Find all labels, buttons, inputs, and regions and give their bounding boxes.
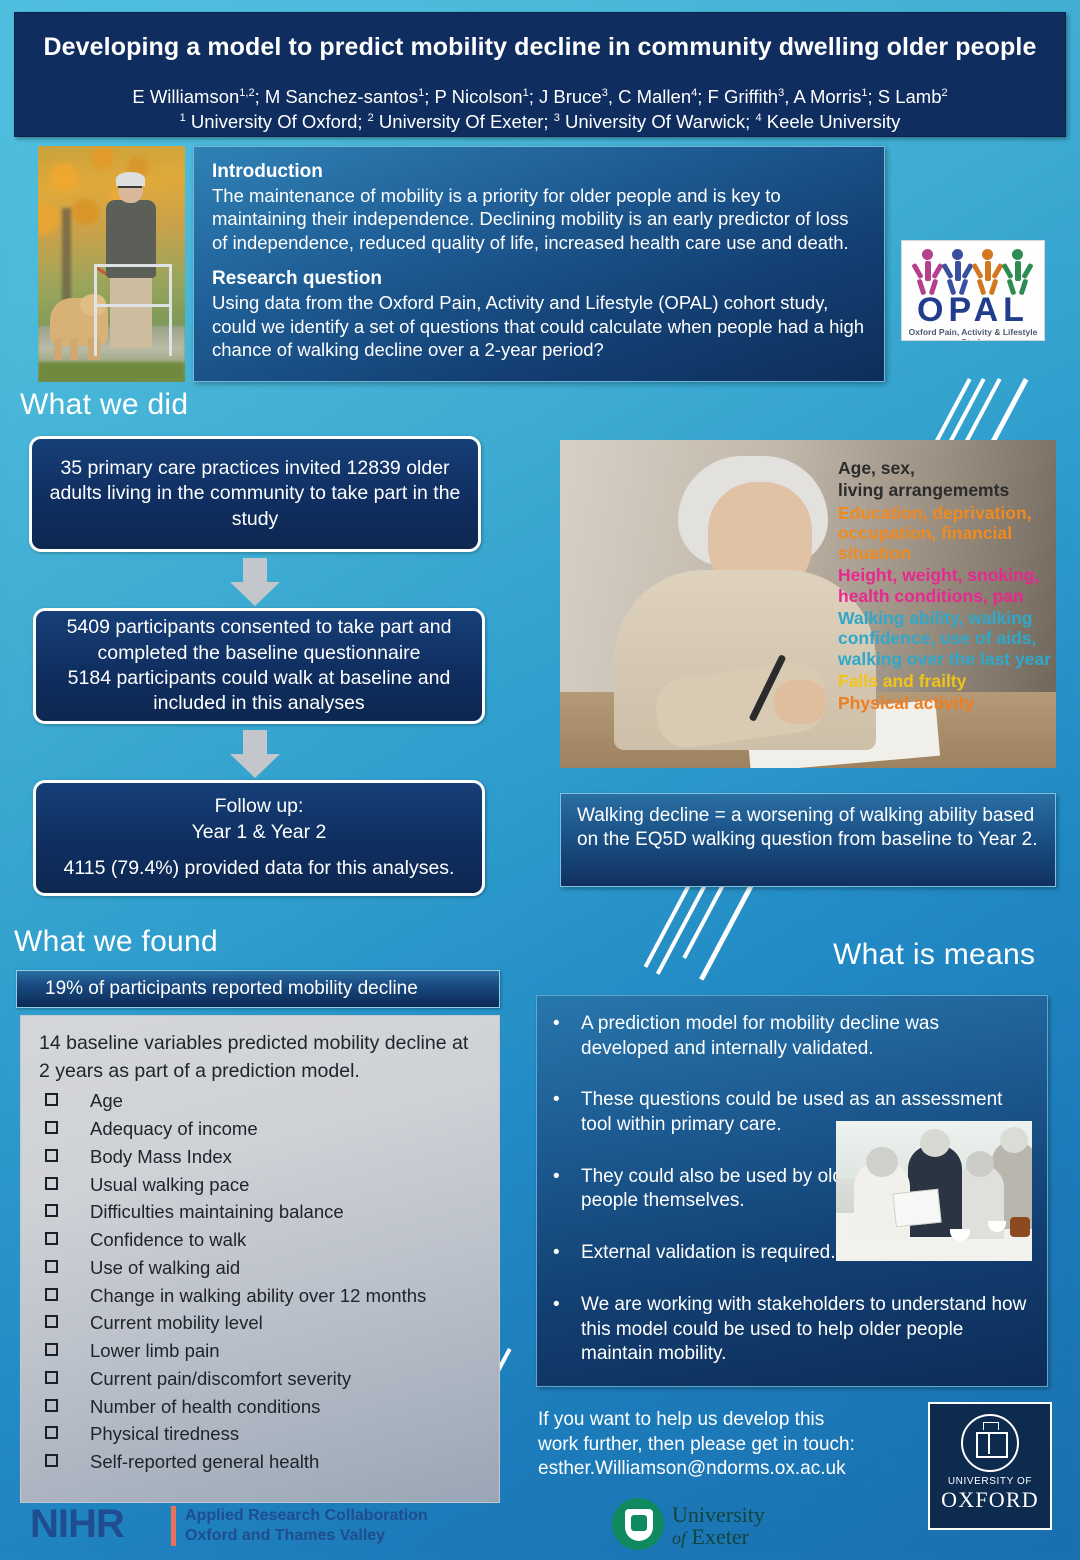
walking-frame-icon: [94, 264, 172, 356]
opal-logo: OPAL Oxford Pain, Activity & Lifestyle S…: [901, 240, 1045, 341]
flow-arrow-down-1: [230, 558, 280, 606]
flow-box-3-line3: 4115 (79.4%) provided data for this anal…: [64, 856, 455, 881]
flow-box-2-line2: 5184 participants could walk at baseline…: [50, 666, 468, 717]
implication-label: A prediction model for mobility decline …: [581, 1012, 1029, 1061]
checkbox-icon: [45, 1454, 58, 1467]
flow-box-3-line1: Follow up:: [215, 794, 304, 819]
flow-box-followup: Follow up: Year 1 & Year 2 4115 (79.4%) …: [33, 780, 485, 896]
exeter-logo-of: of: [672, 1528, 686, 1548]
predictor-variable-label: Physical tiredness: [90, 1420, 239, 1448]
variable-category-2: Education, deprivation, occupation, fina…: [838, 503, 1070, 564]
mobility-decline-percentage-banner: 19% of participants reported mobility de…: [16, 970, 500, 1008]
research-question-body: Using data from the Oxford Pain, Activit…: [212, 291, 868, 361]
checkbox-icon: [45, 1149, 58, 1162]
predictor-variables-list: AgeAdequacy of incomeBody Mass IndexUsua…: [39, 1087, 483, 1476]
predictor-variables-panel: 14 baseline variables predicted mobility…: [20, 1015, 500, 1503]
section-heading-what-we-found: What we found: [14, 925, 218, 959]
predictor-variable-label: Difficulties maintaining balance: [90, 1198, 344, 1226]
oxford-crest-icon: [961, 1414, 1019, 1472]
older-people-group-photo: [836, 1121, 1032, 1261]
variable-category-6: Physical activity: [838, 693, 1070, 713]
predictor-variable-item: Difficulties maintaining balance: [39, 1198, 483, 1226]
oxford-logo-line2: OXFORD: [930, 1487, 1050, 1513]
checkbox-icon: [45, 1260, 58, 1273]
section-heading-what-is-means: What is means: [833, 938, 1035, 972]
nihr-subtitle-line1: Applied Research Collaboration: [185, 1506, 428, 1526]
predictor-variable-label: Body Mass Index: [90, 1143, 232, 1171]
predictor-variable-item: Lower limb pain: [39, 1337, 483, 1365]
predictor-variables-lead: 14 baseline variables predicted mobility…: [39, 1030, 483, 1085]
introduction-heading: Introduction: [212, 161, 868, 183]
checkbox-icon: [45, 1315, 58, 1328]
predictor-variable-item: Usual walking pace: [39, 1171, 483, 1199]
walking-decline-definition: Walking decline = a worsening of walking…: [560, 793, 1056, 887]
predictor-variable-item: Current pain/discomfort severity: [39, 1365, 483, 1393]
variable-category-3: Height, weight, snoking, health conditio…: [838, 565, 1070, 606]
checkbox-icon: [45, 1343, 58, 1356]
checkbox-icon: [45, 1426, 58, 1439]
exeter-seal-icon: [612, 1498, 664, 1550]
section-heading-what-we-did: What we did: [20, 388, 188, 422]
implication-label: We are working with stakeholders to unde…: [581, 1293, 1029, 1367]
predictor-variable-item: Physical tiredness: [39, 1420, 483, 1448]
predictor-variable-label: Number of health conditions: [90, 1393, 320, 1421]
bullet-icon: •: [553, 1165, 581, 1214]
opal-wordmark: OPAL: [902, 293, 1044, 327]
predictor-variable-item: Current mobility level: [39, 1309, 483, 1337]
flow-box-2-line1: 5409 participants consented to take part…: [50, 615, 468, 666]
predictor-variable-item: Change in walking ability over 12 months: [39, 1282, 483, 1310]
predictor-variable-label: Use of walking aid: [90, 1254, 240, 1282]
author-list: E Williamson1,2; M Sanchez-santos1; P Ni…: [15, 84, 1065, 135]
predictor-variable-label: Current pain/discomfort severity: [90, 1365, 351, 1393]
predictor-variable-label: Confidence to walk: [90, 1226, 246, 1254]
implication-label: They could also be used by older people …: [581, 1165, 871, 1214]
opal-figures-icon: [912, 247, 1036, 295]
implication-item: •A prediction model for mobility decline…: [553, 1012, 1029, 1061]
bullet-icon: •: [553, 1241, 581, 1266]
predictor-variable-label: Age: [90, 1087, 123, 1115]
exeter-logo-exeter: Exeter: [692, 1524, 749, 1549]
nihr-divider-bar: [171, 1506, 176, 1546]
checkbox-icon: [45, 1121, 58, 1134]
implication-item: •We are working with stakeholders to und…: [553, 1293, 1029, 1367]
checkbox-icon: [45, 1177, 58, 1190]
checkbox-icon: [45, 1232, 58, 1245]
oxford-logo-line1: UNIVERSITY OF: [930, 1476, 1050, 1487]
flow-box-consent: 5409 participants consented to take part…: [33, 608, 485, 724]
contact-email[interactable]: esther.Williamson@ndorms.ox.ac.uk: [538, 1457, 958, 1482]
nihr-logo: NIHR Applied Research Collaboration Oxfo…: [30, 1504, 430, 1554]
predictor-variable-item: Self-reported general health: [39, 1448, 483, 1476]
bullet-icon: •: [553, 1088, 581, 1137]
checkbox-icon: [45, 1371, 58, 1384]
exeter-logo-line2: of Exeter: [672, 1524, 749, 1550]
opal-subtitle: Oxford Pain, Activity & Lifestyle Study: [902, 327, 1044, 341]
variable-categories-overlay: Age, sex,living arrangememtsEducation, d…: [838, 458, 1070, 716]
checkbox-icon: [45, 1204, 58, 1217]
contact-line-2: work further, then please get in touch:: [538, 1433, 958, 1458]
predictor-variable-label: Adequacy of income: [90, 1115, 258, 1143]
checkbox-icon: [45, 1093, 58, 1106]
predictor-variable-item: Use of walking aid: [39, 1254, 483, 1282]
variable-category-0: Age, sex,: [838, 458, 1070, 478]
author-names: E Williamson1,2; M Sanchez-santos1; P Ni…: [15, 84, 1065, 110]
flow-box-3-line2: Year 1 & Year 2: [192, 820, 327, 845]
contact-line-1: If you want to help us develop this: [538, 1408, 958, 1433]
university-of-exeter-logo: University of Exeter: [612, 1496, 802, 1552]
predictor-variable-item: Confidence to walk: [39, 1226, 483, 1254]
flow-arrow-down-2: [230, 730, 280, 778]
predictor-variable-label: Change in walking ability over 12 months: [90, 1282, 426, 1310]
variable-category-5: Falls and frailty: [838, 671, 1070, 691]
checkbox-icon: [45, 1399, 58, 1412]
university-of-oxford-logo: UNIVERSITY OF OXFORD: [928, 1402, 1052, 1530]
introduction-body: The maintenance of mobility is a priorit…: [212, 184, 868, 254]
predictor-variable-item: Number of health conditions: [39, 1393, 483, 1421]
flow-box-recruitment: 35 primary care practices invited 12839 …: [29, 436, 481, 552]
checkbox-icon: [45, 1288, 58, 1301]
poster-header: Developing a model to predict mobility d…: [14, 12, 1066, 137]
predictor-variable-item: Adequacy of income: [39, 1115, 483, 1143]
affiliation-list: 1 University Of Oxford; 2 University Of …: [15, 109, 1065, 135]
research-question-heading: Research question: [212, 268, 868, 290]
implication-label: External validation is required.: [581, 1241, 836, 1266]
predictor-variable-label: Current mobility level: [90, 1309, 263, 1337]
bullet-icon: •: [553, 1012, 581, 1061]
nihr-subtitle-line2: Oxford and Thames Valley: [185, 1526, 385, 1546]
page-title: Developing a model to predict mobility d…: [15, 33, 1065, 62]
bullet-icon: •: [553, 1293, 581, 1367]
predictor-variable-label: Usual walking pace: [90, 1171, 249, 1199]
flow-box-1-text: 35 primary care practices invited 12839 …: [46, 456, 464, 532]
predictor-variable-label: Lower limb pain: [90, 1337, 220, 1365]
elderly-man-walker-photo: [38, 146, 185, 382]
predictor-variable-item: Age: [39, 1087, 483, 1115]
predictor-variable-item: Body Mass Index: [39, 1143, 483, 1171]
contact-block: If you want to help us develop this work…: [538, 1408, 958, 1482]
predictor-variable-label: Self-reported general health: [90, 1448, 319, 1476]
variable-category-1: living arrangememts: [838, 480, 1070, 500]
introduction-panel: Introduction The maintenance of mobility…: [193, 146, 885, 382]
nihr-wordmark: NIHR: [30, 1504, 124, 1544]
variable-category-4: Walking ability, walking confidence, use…: [838, 608, 1070, 669]
